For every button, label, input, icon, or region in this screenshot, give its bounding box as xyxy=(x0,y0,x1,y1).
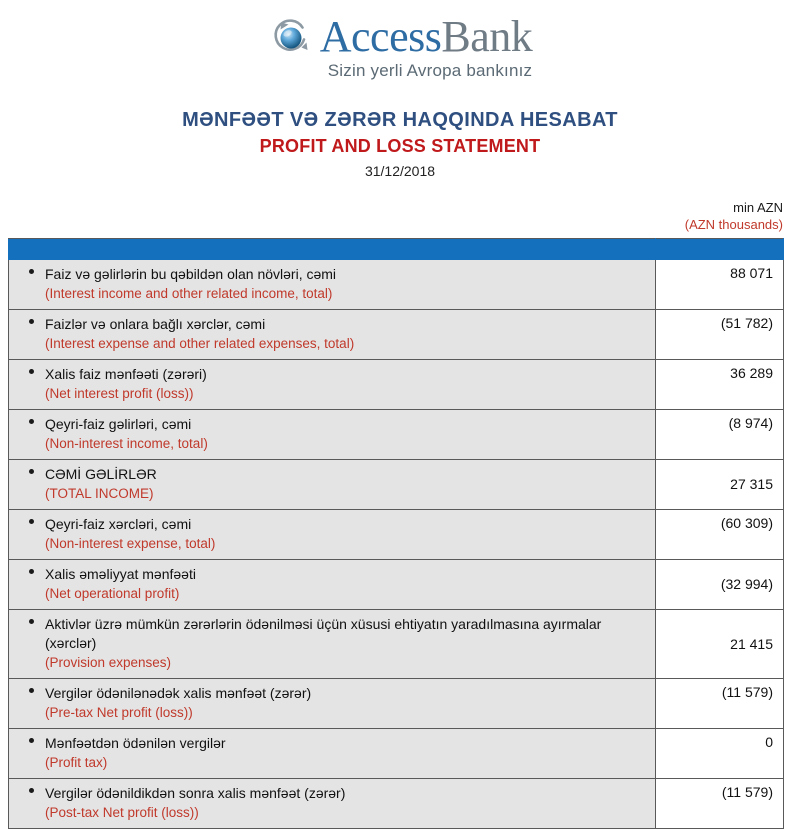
table-row: Qeyri-faiz gəlirləri, cəmi(Non-interest … xyxy=(9,410,784,460)
row-label-en: (Post-tax Net profit (loss)) xyxy=(45,803,647,822)
row-label-en: (Net interest profit (loss)) xyxy=(45,384,647,403)
row-label-az: Xalis əməliyyat mənfəəti xyxy=(45,565,647,584)
row-label-en: (Interest expense and other related expe… xyxy=(45,334,647,353)
bullet-icon xyxy=(29,519,34,524)
profit-loss-table-body: Faiz və gəlirlərin bu qəbildən olan növl… xyxy=(9,239,784,829)
bullet-icon xyxy=(29,469,34,474)
globe-refresh-icon xyxy=(268,15,314,61)
page-title-az: MƏNFƏƏT VƏ ZƏRƏR HAQQINDA HESABAT xyxy=(0,107,800,133)
currency-label-az: min AZN xyxy=(0,199,783,216)
row-label-az: Qeyri-faiz xərcləri, cəmi xyxy=(45,515,647,534)
table-cell-value: (8 974) xyxy=(656,410,784,460)
table-cell-label: CƏMİ GƏLİRLƏR(TOTAL INCOME) xyxy=(9,460,656,510)
table-cell-label: Aktivlər üzrə mümkün zərərlərin ödənilmə… xyxy=(9,610,656,679)
table-row: Vergilər ödənildikdən sonra xalis mənfəə… xyxy=(9,779,784,829)
table-cell-value: (32 994) xyxy=(656,560,784,610)
row-label-az: Xalis faiz mənfəəti (zərəri) xyxy=(45,365,647,384)
table-header-banner-value-cell xyxy=(656,239,784,260)
row-label-en: (Interest income and other related incom… xyxy=(45,284,647,303)
table-cell-value: 36 289 xyxy=(656,360,784,410)
bullet-icon xyxy=(29,269,34,274)
row-label-en: (TOTAL INCOME) xyxy=(45,484,647,503)
report-date: 31/12/2018 xyxy=(0,161,800,181)
row-label-az: Faizlər və onlara bağlı xərclər, cəmi xyxy=(45,315,647,334)
table-cell-label: Xalis faiz mənfəəti (zərəri)(Net interes… xyxy=(9,360,656,410)
table-row: Faizlər və onlara bağlı xərclər, cəmi(In… xyxy=(9,310,784,360)
row-label-az: Vergilər ödənilənədək xalis mənfəət (zər… xyxy=(45,684,647,703)
bullet-icon xyxy=(29,788,34,793)
table-cell-value: 0 xyxy=(656,729,784,779)
bullet-icon xyxy=(29,569,34,574)
table-row: Xalis faiz mənfəəti (zərəri)(Net interes… xyxy=(9,360,784,410)
table-cell-label: Xalis əməliyyat mənfəəti(Net operational… xyxy=(9,560,656,610)
table-row: Vergilər ödənilənədək xalis mənfəət (zər… xyxy=(9,679,784,729)
table-row: Faiz və gəlirlərin bu qəbildən olan növl… xyxy=(9,260,784,310)
table-cell-value: (60 309) xyxy=(656,510,784,560)
table-cell-label: Vergilər ödənildikdən sonra xalis mənfəə… xyxy=(9,779,656,829)
table-cell-value: (11 579) xyxy=(656,679,784,729)
logo-row: AccessBank xyxy=(268,14,533,60)
table-cell-label: Faizlər və onlara bağlı xərclər, cəmi(In… xyxy=(9,310,656,360)
bullet-icon xyxy=(29,369,34,374)
page-title-en: PROFIT AND LOSS STATEMENT xyxy=(0,134,800,158)
bullet-icon xyxy=(29,738,34,743)
currency-note: min AZN (AZN thousands) xyxy=(0,199,800,233)
table-cell-label: Qeyri-faiz xərcləri, cəmi(Non-interest e… xyxy=(9,510,656,560)
table-row: Mənfəətdən ödənilən vergilər(Profit tax)… xyxy=(9,729,784,779)
row-label-az: CƏMİ GƏLİRLƏR xyxy=(45,465,647,484)
bullet-icon xyxy=(29,688,34,693)
row-label-en: (Pre-tax Net profit (loss)) xyxy=(45,703,647,722)
table-cell-value: (11 579) xyxy=(656,779,784,829)
table-row: Aktivlər üzrə mümkün zərərlərin ödənilmə… xyxy=(9,610,784,679)
row-label-en: (Net operational profit) xyxy=(45,584,647,603)
row-label-az: Mənfəətdən ödənilən vergilər xyxy=(45,734,647,753)
currency-label-en: (AZN thousands) xyxy=(0,216,783,233)
bullet-icon xyxy=(29,619,34,624)
table-row: Xalis əməliyyat mənfəəti(Net operational… xyxy=(9,560,784,610)
table-cell-label: Faiz və gəlirlərin bu qəbildən olan növl… xyxy=(9,260,656,310)
table-row: CƏMİ GƏLİRLƏR(TOTAL INCOME)27 315 xyxy=(9,460,784,510)
table-cell-value: 88 071 xyxy=(656,260,784,310)
row-label-en: (Non-interest expense, total) xyxy=(45,534,647,553)
table-cell-value: 27 315 xyxy=(656,460,784,510)
bullet-icon xyxy=(29,419,34,424)
row-label-az: Aktivlər üzrə mümkün zərərlərin ödənilmə… xyxy=(45,615,647,653)
table-header-banner-label-cell xyxy=(9,239,656,260)
row-label-az: Qeyri-faiz gəlirləri, cəmi xyxy=(45,415,647,434)
profit-loss-table: Faiz və gəlirlərin bu qəbildən olan növl… xyxy=(8,238,784,829)
brand-wordmark: AccessBank xyxy=(320,14,533,60)
table-cell-label: Mənfəətdən ödənilən vergilər(Profit tax) xyxy=(9,729,656,779)
row-label-en: (Provision expenses) xyxy=(45,653,647,672)
table-cell-value: 21 415 xyxy=(656,610,784,679)
table-cell-label: Qeyri-faiz gəlirləri, cəmi(Non-interest … xyxy=(9,410,656,460)
row-label-az: Vergilər ödənildikdən sonra xalis mənfəə… xyxy=(45,784,647,803)
table-header-banner xyxy=(9,239,784,260)
table-row: Qeyri-faiz xərcləri, cəmi(Non-interest e… xyxy=(9,510,784,560)
brand-logo-block: AccessBank Sizin yerli Avropa bankınız xyxy=(0,0,800,81)
brand-name-bank: Bank xyxy=(441,12,532,61)
table-cell-value: (51 782) xyxy=(656,310,784,360)
row-label-en: (Profit tax) xyxy=(45,753,647,772)
document-titles: MƏNFƏƏT VƏ ZƏRƏR HAQQINDA HESABAT PROFIT… xyxy=(0,107,800,181)
brand-name-access: Access xyxy=(320,12,442,61)
row-label-az: Faiz və gəlirlərin bu qəbildən olan növl… xyxy=(45,265,647,284)
table-cell-label: Vergilər ödənilənədək xalis mənfəət (zər… xyxy=(9,679,656,729)
brand-tagline: Sizin yerli Avropa bankınız xyxy=(268,61,532,81)
bullet-icon xyxy=(29,319,34,324)
row-label-en: (Non-interest income, total) xyxy=(45,434,647,453)
